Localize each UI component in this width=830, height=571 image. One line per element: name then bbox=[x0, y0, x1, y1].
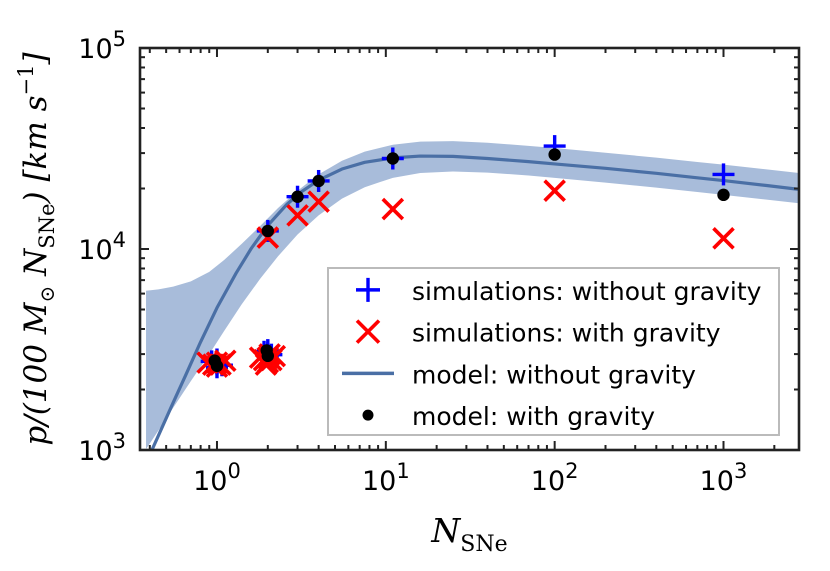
tick-label: 103 bbox=[700, 459, 748, 497]
chart-svg: 100101102103103104105 NSNep/(100 M⊙ NSNe… bbox=[0, 0, 830, 571]
tick-label: 104 bbox=[78, 228, 126, 266]
legend-item-simulations-without-gravity[interactable]: simulations: without gravity bbox=[356, 277, 762, 306]
legend-label: simulations: with gravity bbox=[412, 319, 721, 348]
chart-legend[interactable]: simulations: without gravitysimulations:… bbox=[328, 268, 779, 435]
tick-label: 100 bbox=[193, 459, 241, 497]
y-axis-label: p/(100 M⊙ NSNe) [km s−1] bbox=[14, 52, 59, 446]
tick-label: 102 bbox=[531, 459, 579, 497]
tick-label: 101 bbox=[362, 459, 410, 497]
x-axis-label: NSNe bbox=[430, 511, 507, 557]
legend-label: model: without gravity bbox=[412, 360, 696, 389]
figure-canvas: 100101102103103104105 NSNep/(100 M⊙ NSNe… bbox=[0, 0, 830, 571]
tick-label: 103 bbox=[78, 429, 126, 467]
legend-item-simulations-with-gravity[interactable]: simulations: with gravity bbox=[357, 319, 721, 348]
tick-label: 105 bbox=[78, 27, 126, 65]
legend-label: model: with gravity bbox=[412, 402, 655, 431]
legend-label: simulations: without gravity bbox=[412, 277, 762, 306]
